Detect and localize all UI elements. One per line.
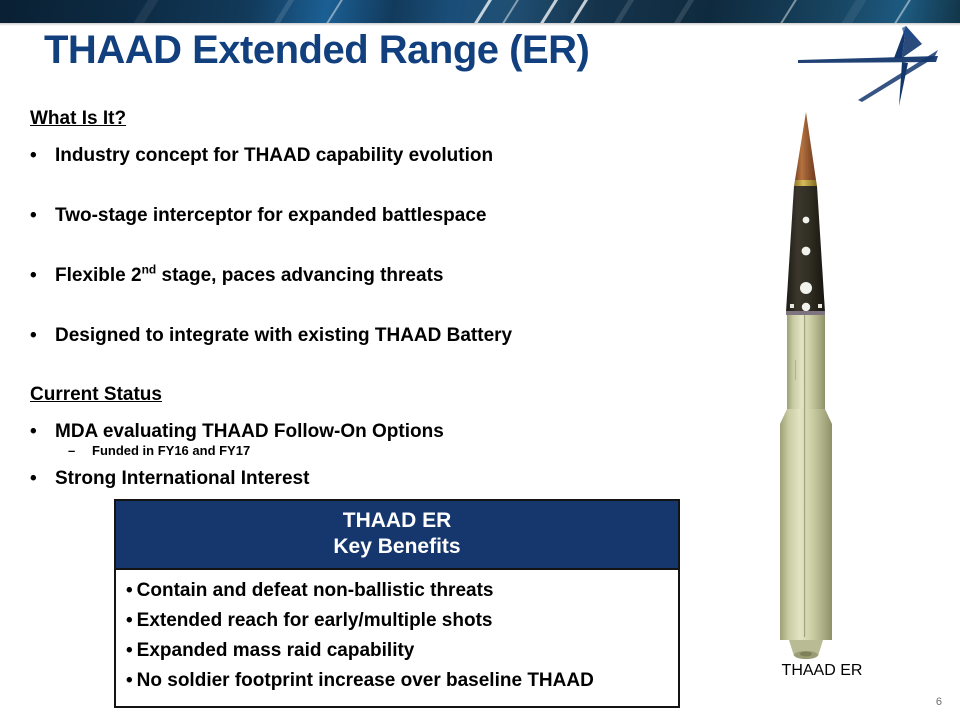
bullet-text: MDA evaluating THAAD Follow-On Options — [55, 421, 690, 443]
key-benefits-header: THAAD ER Key Benefits — [116, 501, 678, 570]
bullet-item: • MDA evaluating THAAD Follow-On Options — [30, 421, 690, 443]
banner-streak — [317, 0, 354, 23]
bullet-text-pre: Flexible 2 — [55, 265, 142, 286]
missile-nozzle-throat — [800, 652, 812, 657]
slide-canvas: THAAD Extended Range (ER) What Is It? • … — [0, 0, 960, 720]
bullet-text: Industry concept for THAAD capability ev… — [55, 145, 690, 167]
key-benefit-item: •Expanded mass raid capability — [126, 636, 678, 666]
key-benefits-table: THAAD ER Key Benefits •Contain and defea… — [114, 499, 680, 708]
key-benefit-text: Expanded mass raid capability — [137, 640, 415, 661]
missile-marker-dot — [802, 303, 810, 311]
bullet-dot-icon: • — [30, 468, 55, 490]
missile-gold-band — [794, 180, 817, 186]
bullet-dot-icon: • — [30, 325, 55, 347]
banner-streak — [126, 0, 169, 23]
bullet-item: • Strong International Interest — [30, 468, 690, 490]
page-title: THAAD Extended Range (ER) — [44, 28, 589, 73]
banner-streak — [885, 0, 922, 23]
banner-streak — [834, 0, 877, 23]
bullet-text-post: stage, paces advancing threats — [156, 265, 443, 286]
key-benefits-list: •Contain and defeat non-ballistic threat… — [116, 570, 678, 706]
bullet-text: Strong International Interest — [55, 468, 690, 490]
spacer — [30, 287, 690, 325]
banner-streak — [465, 0, 503, 23]
sub-bullet-item: – Funded in FY16 and FY17 — [68, 443, 690, 459]
section-heading-current-status: Current Status — [30, 384, 690, 412]
key-benefit-item: •Contain and defeat non-ballistic threat… — [126, 576, 678, 606]
bullet-dot-icon: • — [126, 580, 133, 601]
sub-bullet-text: Funded in FY16 and FY17 — [92, 443, 250, 459]
missile-marker-dot — [803, 217, 810, 224]
banner-streak — [561, 0, 599, 23]
missile-nose-cone — [795, 112, 816, 180]
bullet-text: Two-stage interceptor for expanded battl… — [55, 205, 690, 227]
missile-marker-dot — [790, 304, 794, 308]
body-content: What Is It? • Industry concept for THAAD… — [30, 108, 690, 490]
banner-streak — [605, 0, 644, 23]
section-heading-what-is-it: What Is It? — [30, 108, 690, 136]
bullet-dot-icon: • — [126, 640, 133, 661]
key-benefit-item: •No soldier footprint increase over base… — [126, 666, 678, 696]
missile-upper-body — [787, 315, 825, 409]
bullet-item: • Designed to integrate with existing TH… — [30, 325, 690, 347]
bullet-dot-icon: • — [126, 610, 133, 631]
spacer — [30, 227, 690, 265]
bullet-dot-icon: • — [30, 421, 55, 443]
banner-streak — [665, 0, 704, 23]
missile-stage-transition — [780, 409, 832, 424]
missile-booster-body — [780, 424, 832, 640]
bullet-item: • Flexible 2nd stage, paces advancing th… — [30, 265, 690, 287]
spacer — [30, 167, 690, 205]
key-benefit-text: No soldier footprint increase over basel… — [137, 670, 594, 691]
bullet-text: Designed to integrate with existing THAA… — [55, 325, 690, 347]
banner-streak — [265, 0, 304, 23]
missile-marker-dot — [800, 282, 812, 294]
section-heading-text: What Is It? — [30, 108, 126, 130]
bullet-item: • Industry concept for THAAD capability … — [30, 145, 690, 167]
banner-streak — [531, 0, 569, 23]
spacer — [30, 346, 690, 384]
key-benefit-text: Contain and defeat non-ballistic threats — [137, 580, 494, 601]
bullet-dot-icon: • — [30, 145, 55, 167]
thaad-er-missile-illustration — [742, 108, 902, 668]
bullet-dot-icon: • — [126, 670, 133, 691]
lockheed-martin-star-logo — [798, 22, 948, 106]
banner-streak — [771, 0, 808, 23]
missile-marker-dot — [802, 247, 811, 256]
missile-interstage-band — [786, 311, 825, 315]
bullet-item: • Two-stage interceptor for expanded bat… — [30, 205, 690, 227]
spacer — [30, 136, 690, 145]
missile-seam-line — [804, 315, 805, 637]
key-benefits-title-line1: THAAD ER — [116, 508, 678, 534]
page-number: 6 — [936, 696, 942, 708]
missile-caption: THAAD ER — [742, 662, 902, 680]
header-banner — [0, 0, 960, 23]
bullet-dot-icon: • — [30, 265, 55, 287]
key-benefits-title-line2: Key Benefits — [116, 534, 678, 560]
key-benefit-text: Extended reach for early/multiple shots — [137, 610, 493, 631]
bullet-text-superscript: nd — [142, 262, 157, 276]
sub-bullet-dash-icon: – — [68, 443, 92, 459]
missile-panel-line — [795, 360, 796, 380]
section-heading-text: Current Status — [30, 384, 162, 406]
key-benefit-item: •Extended reach for early/multiple shots — [126, 606, 678, 636]
spacer — [30, 459, 690, 468]
banner-streak — [493, 0, 530, 23]
spacer — [30, 412, 690, 421]
bullet-dot-icon: • — [30, 205, 55, 227]
missile-marker-dot — [818, 304, 822, 308]
bullet-text: Flexible 2nd stage, paces advancing thre… — [55, 265, 690, 287]
